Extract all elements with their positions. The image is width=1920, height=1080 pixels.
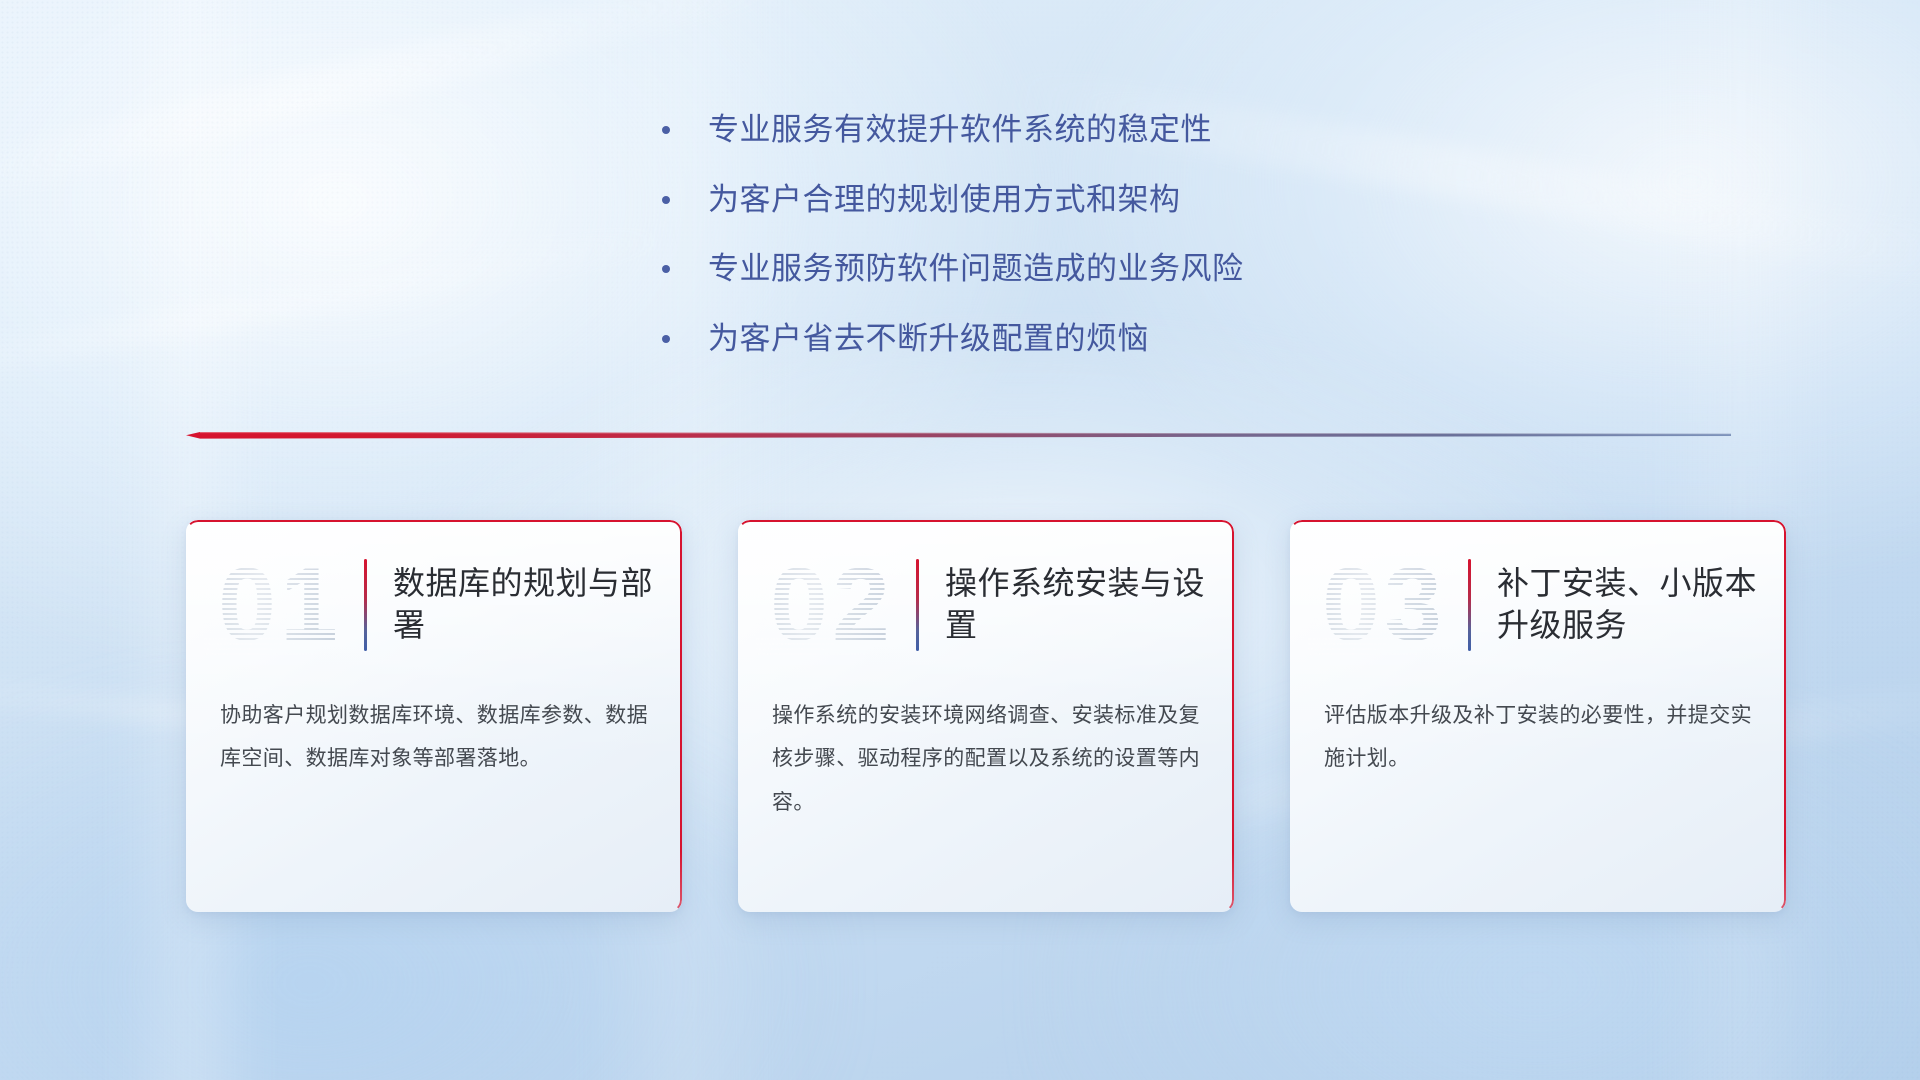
card-divider-bar [364, 559, 367, 651]
service-card-03[interactable]: 03 补丁安装、小版本升级服务 评估版本升级及补丁安装的必要性，并提交实施计划。 [1290, 520, 1786, 912]
bullet-item-4: 为客户省去不断升级配置的烦恼 [662, 319, 1422, 359]
bullet-item-2: 为客户合理的规划使用方式和架构 [662, 180, 1422, 220]
bullet-text-2: 为客户合理的规划使用方式和架构 [708, 180, 1181, 220]
card-header: 01 数据库的规划与部署 [186, 520, 682, 690]
bullet-text-3: 专业服务预防软件问题造成的业务风险 [708, 249, 1244, 289]
service-card-01[interactable]: 01 数据库的规划与部署 协助客户规划数据库环境、数据库参数、数据库空间、数据库… [186, 520, 682, 912]
card-title-03: 补丁安装、小版本升级服务 [1497, 563, 1760, 646]
bullet-dot-icon [662, 265, 670, 273]
card-title-01: 数据库的规划与部署 [393, 563, 656, 646]
card-body-02: 操作系统的安装环境网络调查、安装标准及复核步骤、驱动程序的配置以及系统的设置等内… [738, 690, 1234, 824]
card-number-01: 01 [204, 553, 356, 657]
bullet-item-1: 专业服务有效提升软件系统的稳定性 [662, 110, 1422, 150]
bullet-item-3: 专业服务预防软件问题造成的业务风险 [662, 249, 1422, 289]
benefit-bullet-list: 专业服务有效提升软件系统的稳定性 为客户合理的规划使用方式和架构 专业服务预防软… [662, 110, 1422, 359]
card-divider-bar [1468, 559, 1471, 651]
card-body-01: 协助客户规划数据库环境、数据库参数、数据库空间、数据库对象等部署落地。 [186, 690, 682, 781]
card-divider-bar [916, 559, 919, 651]
divider-shape-icon [186, 428, 1731, 444]
card-title-02: 操作系统安装与设置 [945, 563, 1208, 646]
service-card-list: 01 数据库的规划与部署 协助客户规划数据库环境、数据库参数、数据库空间、数据库… [186, 520, 1786, 912]
card-header: 02 操作系统安装与设置 [738, 520, 1234, 690]
bullet-dot-icon [662, 335, 670, 343]
bullet-dot-icon [662, 196, 670, 204]
bullet-text-1: 专业服务有效提升软件系统的稳定性 [708, 110, 1212, 150]
bullet-text-4: 为客户省去不断升级配置的烦恼 [708, 319, 1149, 359]
card-body-03: 评估版本升级及补丁安装的必要性，并提交实施计划。 [1290, 690, 1786, 781]
service-card-02[interactable]: 02 操作系统安装与设置 操作系统的安装环境网络调查、安装标准及复核步骤、驱动程… [738, 520, 1234, 912]
card-number-03: 03 [1308, 553, 1460, 657]
bullet-dot-icon [662, 126, 670, 134]
card-header: 03 补丁安装、小版本升级服务 [1290, 520, 1786, 690]
section-divider [186, 428, 1731, 444]
card-number-02: 02 [756, 553, 908, 657]
